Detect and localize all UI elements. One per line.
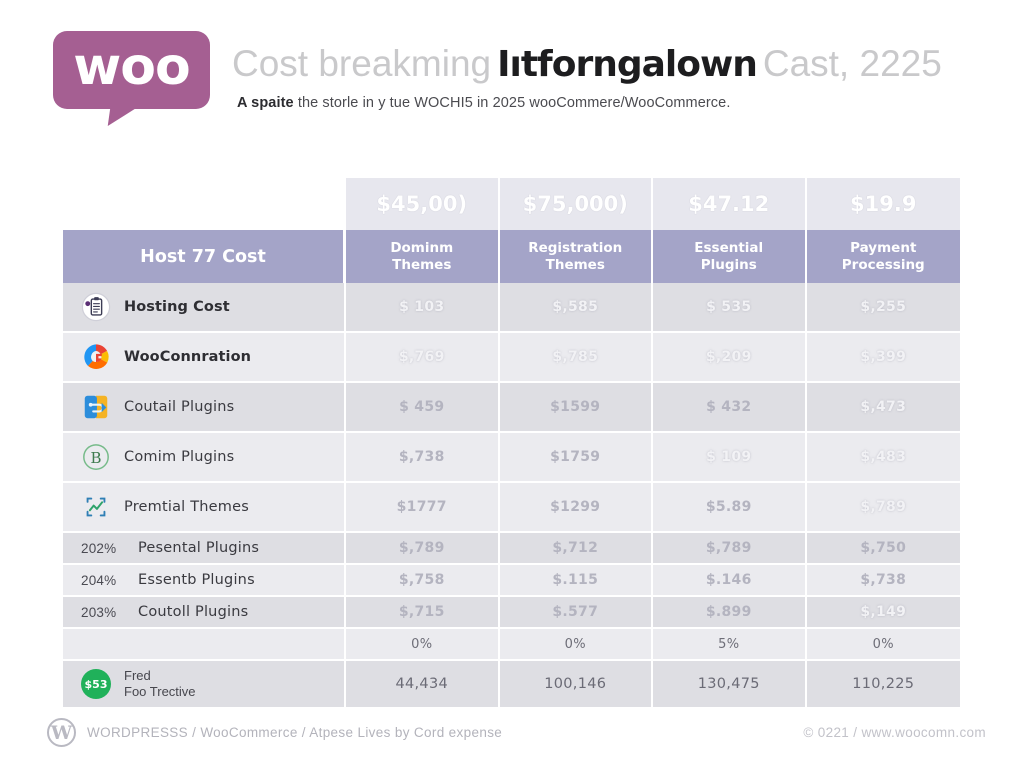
avatar: $53 (81, 669, 111, 699)
total-label-cell: $53 Fred Foo Trective (63, 661, 346, 707)
money-band-cell-4: $19.9 (807, 178, 961, 230)
footer-left: W WORDPREЅSS / WooCommerce / Atpese Live… (47, 718, 502, 747)
page-title-part2: Iıtforngalown (491, 44, 763, 85)
row-value: $5.89 (653, 483, 807, 533)
money-band-row: $45,00) $75,000) $47.12 $19.9 (63, 178, 960, 230)
table-header-col-3-line1: Essential (653, 240, 805, 257)
page-header: woo Cost breakming Iıtforngalown Cast, 2… (0, 0, 1024, 150)
woo-logo-text: woo (73, 41, 190, 93)
letter-b-circle-icon: B (81, 442, 111, 472)
row-value: $,483 (807, 433, 961, 483)
woo-logo-tail (108, 108, 143, 126)
row-value: $,785 (500, 333, 654, 383)
table-header-col-4-line1: Payment (807, 240, 961, 257)
table-row[interactable]: WooConnration $,769 $,785 $,209 $,399 (63, 333, 960, 383)
table-row[interactable]: 204% Essentb Plugins $,758 $.115 $.146 $… (63, 565, 960, 597)
row-label: Essentb Plugins (138, 572, 255, 588)
row-value: $.115 (500, 565, 654, 597)
table-header-row: Host 77 Cost Dominm Themes Registration … (63, 230, 960, 283)
document-clipboard-icon (81, 292, 111, 322)
table-header-col-4[interactable]: Payment Processing (807, 230, 961, 283)
money-band-cell-1: $45,00) (346, 178, 500, 230)
total-label-line1: Fred (124, 668, 196, 684)
row-value: $,585 (500, 283, 654, 333)
row-label: Coutoll Plugins (138, 604, 248, 620)
page-footer: W WORDPREЅSS / WooCommerce / Atpese Live… (0, 712, 1024, 768)
chart-trend-icon (81, 492, 111, 522)
table-row[interactable]: Hosting Cost $ 103 $,585 $ 535 $,255 (63, 283, 960, 333)
table-header-col-2[interactable]: Registration Themes (500, 230, 654, 283)
row-value: $,758 (346, 565, 500, 597)
total-value: 100,146 (500, 661, 654, 707)
table-row[interactable]: B Comim Plugins $,738 $1759 $ 109 $,483 (63, 433, 960, 483)
page-subtitle: A spaite the storle in y tue WOCΗI5 in 2… (237, 95, 730, 111)
cost-table-container: $45,00) $75,000) $47.12 $19.9 Host 77 Co… (63, 178, 960, 698)
table-row[interactable]: 203% Coutoll Plugins $,715 $.577 $.899 $… (63, 597, 960, 629)
table-row[interactable]: Premtial Themes $1777 $1299 $5.89 $,789 (63, 483, 960, 533)
money-band-cell-2: $75,000) (500, 178, 654, 230)
table-header-col-4-line2: Processing (807, 257, 961, 274)
google-multicolor-circle-icon (81, 342, 111, 372)
percent-row: 0% 0% 5% 0% (63, 629, 960, 661)
percent-value: 0% (500, 629, 654, 661)
table-row[interactable]: Coutail Plugins $ 459 $1599 $ 432 $,473 (63, 383, 960, 433)
row-value: $.146 (653, 565, 807, 597)
row-label-cell: Coutail Plugins (63, 383, 346, 433)
percent-row-spacer (63, 629, 346, 661)
row-value: $,789 (653, 533, 807, 565)
row-label-cell: WooConnration (63, 333, 346, 383)
total-value: 44,434 (346, 661, 500, 707)
table-header-left[interactable]: Host 77 Cost (63, 230, 346, 283)
row-label-cell: 202% Pesental Plugins (63, 533, 346, 565)
row-value: $,750 (807, 533, 961, 565)
row-percent: 202% (81, 541, 125, 556)
money-band-cell-3: $47.12 (653, 178, 807, 230)
total-value: 130,475 (653, 661, 807, 707)
row-percent: 204% (81, 573, 125, 588)
row-value: $.899 (653, 597, 807, 629)
row-value: $,712 (500, 533, 654, 565)
row-label-cell: Hosting Cost (63, 283, 346, 333)
row-value: $,149 (807, 597, 961, 629)
poster-canvas: woo Cost breakming Iıtforngalown Cast, 2… (0, 0, 1024, 768)
row-label-cell: B Comim Plugins (63, 433, 346, 483)
table-header-col-1-line1: Dominm (346, 240, 498, 257)
money-band-spacer (63, 178, 346, 230)
woo-logo: woo (53, 31, 210, 109)
total-row[interactable]: $53 Fred Foo Trective 44,434 100,146 130… (63, 661, 960, 707)
table-header-col-3-line2: Plugins (653, 257, 805, 274)
row-value: $1299 (500, 483, 654, 533)
percent-value: 5% (653, 629, 807, 661)
row-label: Coutail Plugins (124, 399, 234, 415)
row-value: $ 535 (653, 283, 807, 333)
row-value: $,769 (346, 333, 500, 383)
footer-copyright: © 0221 / www.woocomn.com (803, 725, 986, 740)
row-label-cell: 203% Coutoll Plugins (63, 597, 346, 629)
row-label: WooConnration (124, 349, 251, 365)
page-title-part1: Cost breakming (232, 43, 491, 85)
table-row[interactable]: 202% Pesental Plugins $,789 $,712 $,789 … (63, 533, 960, 565)
row-label-cell: Premtial Themes (63, 483, 346, 533)
row-label: Pesental Plugins (138, 540, 259, 556)
table-header-col-1[interactable]: Dominm Themes (346, 230, 500, 283)
table-header-col-3[interactable]: Essential Plugins (653, 230, 807, 283)
cost-table: $45,00) $75,000) $47.12 $19.9 Host 77 Co… (63, 178, 960, 707)
row-value: $1759 (500, 433, 654, 483)
row-label: Hosting Cost (124, 299, 230, 315)
page-title: Cost breakming Iıtforngalown Cast, 2225 (232, 36, 1012, 92)
page-subtitle-rest: the storle in y tue WOCΗI5 in 2025 wooCo… (298, 95, 731, 111)
footer-credits: WORDPREЅSS / WooCommerce / Atpese Lives … (87, 725, 502, 740)
row-value: $,789 (807, 483, 961, 533)
total-value: 110,225 (807, 661, 961, 707)
row-value: $1599 (500, 383, 654, 433)
row-value: $ 459 (346, 383, 500, 433)
page-title-part3: Cast, 2225 (763, 43, 942, 85)
row-percent: 203% (81, 605, 125, 620)
row-label: Premtial Themes (124, 499, 249, 515)
row-label-cell: 204% Essentb Plugins (63, 565, 346, 597)
row-value: $,715 (346, 597, 500, 629)
row-value: $,738 (346, 433, 500, 483)
page-subtitle-lead: A spaite (237, 95, 294, 111)
row-value: $,255 (807, 283, 961, 333)
row-value: $ 432 (653, 383, 807, 433)
row-value: $ 109 (653, 433, 807, 483)
row-value: $.577 (500, 597, 654, 629)
total-label-line2: Foo Trective (124, 684, 196, 700)
row-value: $1777 (346, 483, 500, 533)
wordpress-icon: W (47, 718, 76, 747)
row-value: $,789 (346, 533, 500, 565)
svg-text:B: B (90, 449, 101, 467)
row-value: $ 103 (346, 283, 500, 333)
row-value: $,738 (807, 565, 961, 597)
table-header-col-1-line2: Themes (346, 257, 498, 274)
table-header-col-2-line2: Themes (500, 257, 652, 274)
blue-yellow-plugin-icon (81, 392, 111, 422)
row-value: $,399 (807, 333, 961, 383)
row-value: $,209 (653, 333, 807, 383)
percent-value: 0% (346, 629, 500, 661)
table-header-col-2-line1: Registration (500, 240, 652, 257)
percent-value: 0% (807, 629, 961, 661)
row-label: Comim Plugins (124, 449, 234, 465)
row-value: $,473 (807, 383, 961, 433)
